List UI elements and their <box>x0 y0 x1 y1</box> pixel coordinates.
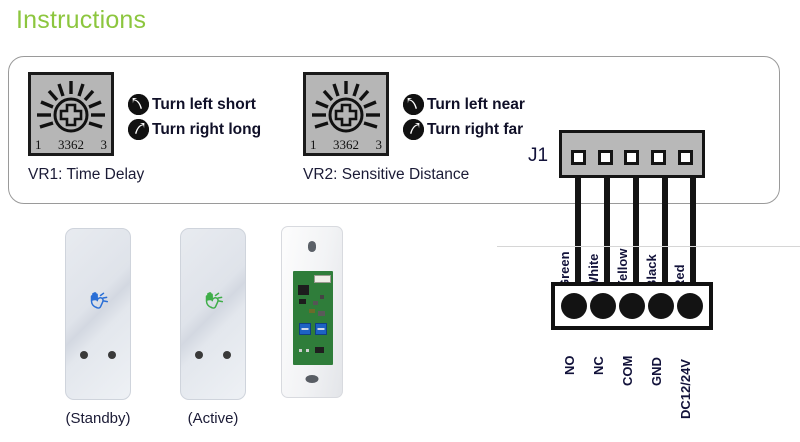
wire-red <box>690 176 696 282</box>
pcb-chip-2 <box>299 299 306 304</box>
terminal-hole-no <box>561 293 587 319</box>
j1-pin-5 <box>678 150 693 165</box>
led-right <box>223 351 231 359</box>
terminal-label-gnd: GND <box>649 357 664 386</box>
vr1-turn-left-row: Turn left short <box>128 92 261 117</box>
terminal-hole-nc <box>590 293 616 319</box>
vr2-turn-right-row: Turn right far <box>403 117 525 142</box>
vr1-dial: 1 3362 3 <box>28 72 114 156</box>
pcb-potentiometer-vr2[interactable] <box>315 323 327 335</box>
standby-caption: (Standby) <box>38 410 158 427</box>
j1-pin-1 <box>571 150 586 165</box>
pcb-part-3 <box>313 301 318 305</box>
turn-left-icon <box>403 94 424 115</box>
j1-pin-3 <box>624 150 639 165</box>
pcb-pad-2 <box>306 349 309 352</box>
terminal-label-dc: DC12/24V <box>678 359 693 419</box>
terminal-hole-com <box>619 293 645 319</box>
turn-right-icon <box>128 119 149 140</box>
led-left <box>195 351 203 359</box>
j1-pin-row <box>562 150 702 165</box>
vr1-turn-left-label: Turn left short <box>152 96 256 114</box>
vr2-scale-mid: 3362 <box>333 137 359 152</box>
pcb-part-7 <box>315 347 324 353</box>
vr2-turn-right-label: Turn right far <box>427 121 523 139</box>
wire-black <box>662 176 668 282</box>
wire-white <box>604 176 610 282</box>
j1-pin-4 <box>651 150 666 165</box>
vr2-turn-left-label: Turn left near <box>427 96 525 114</box>
pcb-connector-header <box>314 275 331 283</box>
standby-switch-panel <box>65 228 131 400</box>
terminal-hole-row <box>555 293 709 319</box>
waving-hand-icon <box>199 287 227 320</box>
bottom-mount-hole <box>306 375 319 383</box>
wire-harness: Green White Yellow Black Red <box>559 176 705 282</box>
open-housing-pcb-device <box>281 226 343 398</box>
turn-right-icon <box>403 119 424 140</box>
waving-hand-icon <box>84 287 112 320</box>
vr2-caption: VR2: Sensitive Distance <box>303 166 469 184</box>
page-title: Instructions <box>16 6 146 35</box>
wire-yellow <box>633 176 639 282</box>
pcb-part-6 <box>318 311 325 316</box>
pcb-pad-1 <box>299 349 302 352</box>
vr1-turn-right-label: Turn right long <box>152 121 261 139</box>
vr1-adjuster-block: 1 3362 3 VR1: Time Delay <box>28 72 114 156</box>
vr2-turn-list: Turn left near Turn right far <box>403 92 525 142</box>
led-right <box>108 351 116 359</box>
vr2-adjuster-block: 1 3362 3 VR2: Sensitive Distance <box>303 72 389 156</box>
vr1-turn-right-row: Turn right long <box>128 117 261 142</box>
j1-connector <box>559 130 705 178</box>
active-led-pair <box>181 351 245 359</box>
vr2-scale-left: 1 <box>310 137 317 152</box>
pcb-chip-1 <box>298 285 309 295</box>
top-sensor-hole <box>308 241 316 252</box>
terminal-label-com: COM <box>620 356 635 386</box>
vr2-turn-left-row: Turn left near <box>403 92 525 117</box>
turn-left-icon <box>128 94 149 115</box>
active-switch-panel <box>180 228 246 400</box>
j1-pin-2 <box>598 150 613 165</box>
section-divider <box>497 246 800 247</box>
terminal-hole-gnd <box>648 293 674 319</box>
terminal-label-no: NO <box>562 356 577 376</box>
terminal-block <box>551 282 713 330</box>
pcb-part-5 <box>309 309 315 313</box>
pcb-potentiometer-vr1[interactable] <box>299 323 311 335</box>
vr1-turn-list: Turn left short Turn right long <box>128 92 261 142</box>
led-left <box>80 351 88 359</box>
vr1-scale-left: 1 <box>35 137 42 152</box>
vr1-caption: VR1: Time Delay <box>28 166 144 184</box>
terminal-hole-dc <box>677 293 703 319</box>
pcb-board <box>293 271 333 365</box>
pcb-part-4 <box>320 295 324 299</box>
standby-led-pair <box>66 351 130 359</box>
vr1-scale-right: 3 <box>101 137 108 152</box>
vr2-dial: 1 3362 3 <box>303 72 389 156</box>
active-caption: (Active) <box>153 410 273 427</box>
vr2-scale-right: 3 <box>376 137 383 152</box>
vr1-dial-scale: 1 3362 3 <box>31 137 111 152</box>
vr1-scale-mid: 3362 <box>58 137 84 152</box>
vr2-dial-scale: 1 3362 3 <box>306 137 386 152</box>
wire-green <box>575 176 581 282</box>
j1-connector-label: J1 <box>528 145 548 167</box>
terminal-label-nc: NC <box>591 356 606 375</box>
